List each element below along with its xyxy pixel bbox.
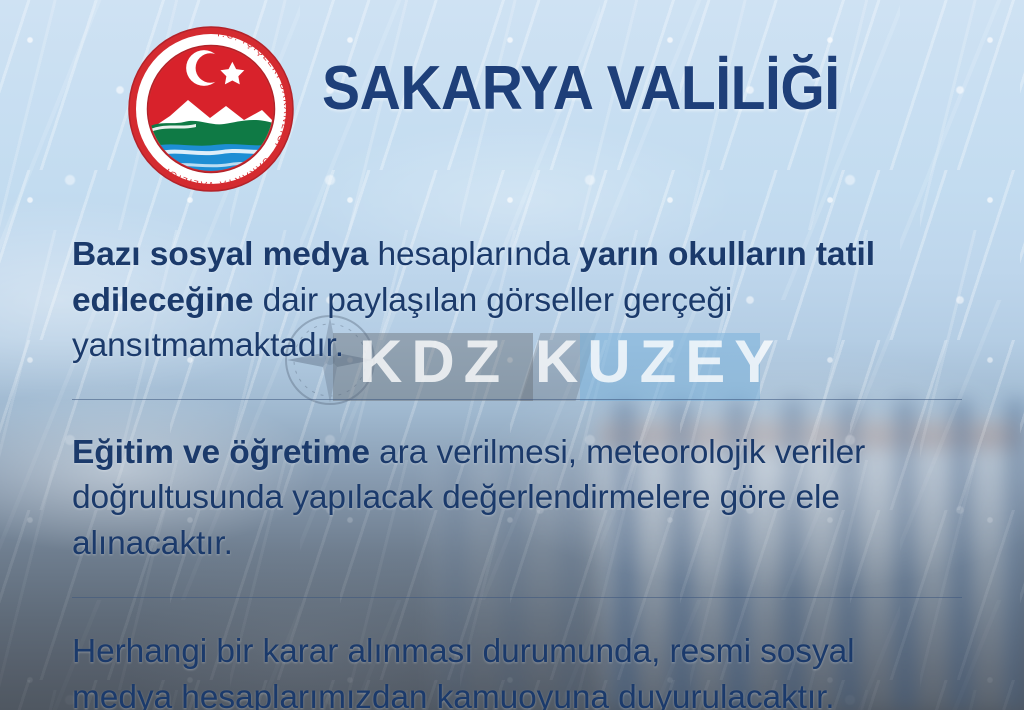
paragraph-1-bold-1: Bazı sosyal medya <box>72 236 377 273</box>
paragraph-3-regular-1: Herhangi bir karar alınması durumunda, r… <box>72 633 854 710</box>
spacer-3 <box>72 566 962 597</box>
paragraph-2-bold-1: Eğitim ve öğretime <box>72 434 379 471</box>
spacer-2 <box>72 400 962 430</box>
spacer-1 <box>72 369 962 399</box>
paragraph-1: Bazı sosyal medya hesaplarında yarın oku… <box>72 232 962 369</box>
paragraph-2: Eğitim ve öğretime ara verilmesi, meteor… <box>72 430 962 567</box>
governorship-emblem-icon: T.C. İÇİŞLERİ BAKANLIĞI · SAKARYA VALİLİ… <box>126 24 296 194</box>
paragraph-3: Herhangi bir karar alınması durumunda, r… <box>72 629 962 710</box>
announcement-body: Bazı sosyal medya hesaplarında yarın oku… <box>72 232 962 710</box>
paragraph-1-regular-1: hesaplarında <box>377 236 579 273</box>
announcement-poster: T.C. İÇİŞLERİ BAKANLIĞI · SAKARYA VALİLİ… <box>0 0 1024 710</box>
page-title: SAKARYA VALİLİĞİ <box>322 58 840 120</box>
spacer-4 <box>72 598 962 629</box>
